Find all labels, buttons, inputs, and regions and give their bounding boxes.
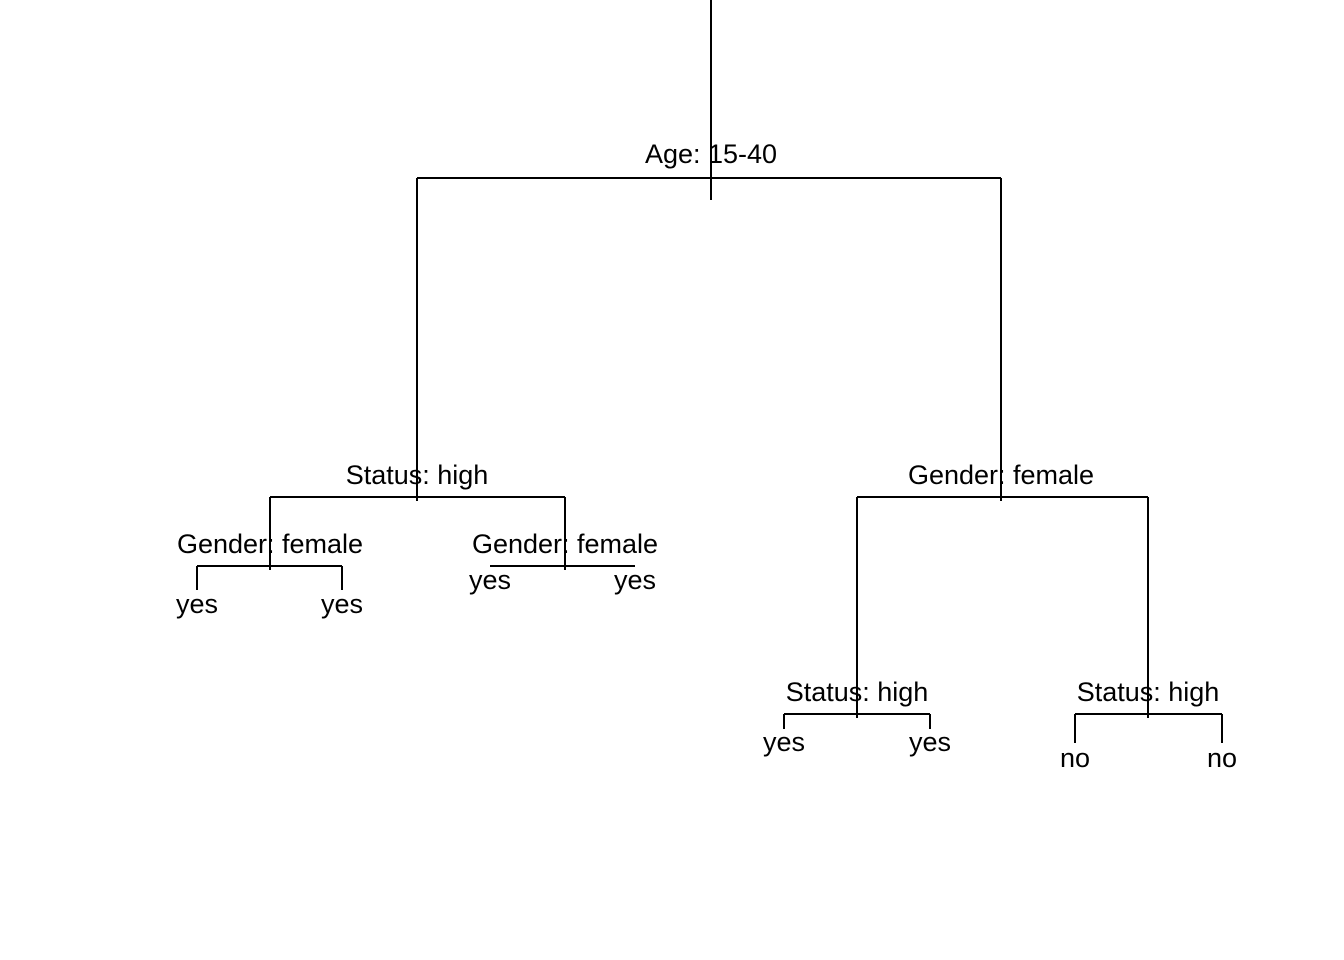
leaf-label-leaf-7: no — [1060, 745, 1090, 772]
node-label-root: Age: 15-40 — [645, 141, 777, 168]
node-label-n-status-high-r1: Status: high — [786, 679, 929, 706]
node-label-n-gender-female-2: Gender: female — [472, 531, 658, 558]
node-label-n-status-high-left: Status: high — [346, 462, 489, 489]
leaf-label-leaf-5: yes — [763, 729, 805, 756]
leaf-label-leaf-2: yes — [321, 591, 363, 618]
decision-tree-figure: Age: 15-40Status: highGender: femaleGend… — [0, 0, 1344, 960]
leaf-label-leaf-3: yes — [469, 567, 511, 594]
leaf-label-leaf-4: yes — [614, 567, 656, 594]
node-label-n-status-high-r2: Status: high — [1077, 679, 1220, 706]
node-label-n-gender-female-right: Gender: female — [908, 462, 1094, 489]
leaf-label-leaf-6: yes — [909, 729, 951, 756]
leaf-label-leaf-8: no — [1207, 745, 1237, 772]
node-label-n-gender-female-1: Gender: female — [177, 531, 363, 558]
leaf-label-leaf-1: yes — [176, 591, 218, 618]
